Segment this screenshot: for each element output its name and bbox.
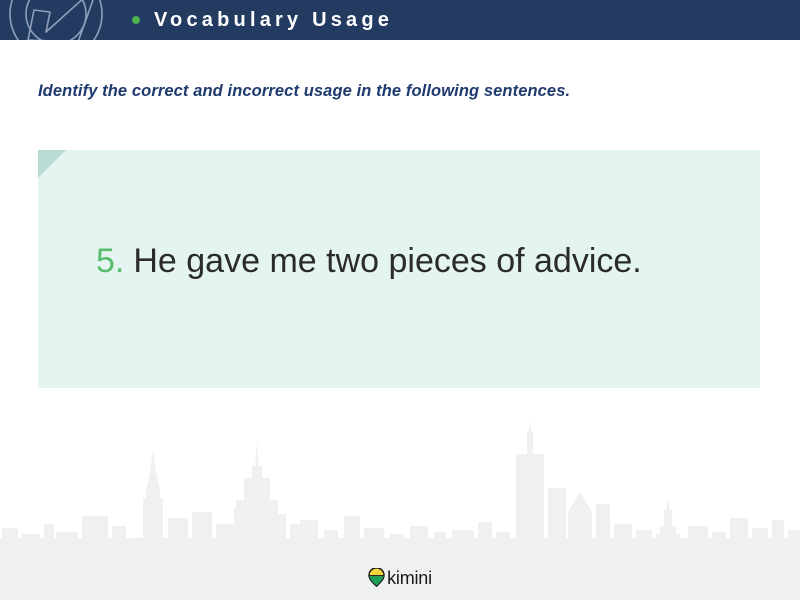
question-number: 5. (96, 242, 124, 281)
question-card: 5. He gave me two pieces of advice. (38, 150, 760, 388)
brand-logo: kimini (0, 555, 800, 600)
city-skyline-silhouette-icon (0, 420, 800, 555)
instruction-text: Identify the correct and incorrect usage… (38, 82, 570, 101)
card-fold-corner-icon (38, 150, 66, 178)
question-line: 5. He gave me two pieces of advice. (96, 242, 642, 281)
green-dot-icon (132, 16, 140, 24)
kimini-balloon-icon (368, 568, 385, 587)
g-monogram-outline-icon (0, 0, 124, 40)
header-title-group: Vocabulary Usage (132, 0, 393, 40)
page-title: Vocabulary Usage (154, 10, 393, 30)
question-sentence: He gave me two pieces of advice. (133, 242, 641, 281)
slide-header: Vocabulary Usage (0, 0, 800, 40)
brand-wordmark: kimini (387, 569, 432, 587)
